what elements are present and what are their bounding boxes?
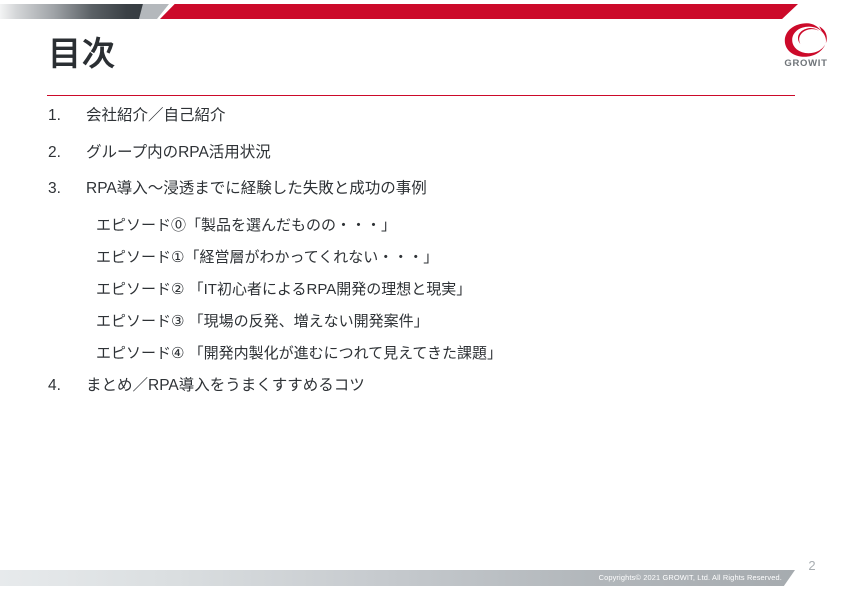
toc-item-3: 3. RPA導入〜浸透までに経験した失敗と成功の事例 [48, 181, 808, 197]
toc-item-4: 4. まとめ／RPA導入をうまくすすめるコツ [48, 378, 808, 394]
toc-subitem-label: エピソード③ 「現場の反発、増えない開発案件」 [96, 314, 429, 329]
page-number: 2 [795, 558, 829, 573]
footer-copyright: Copyrights© 2021 GROWIT, Ltd. All Rights… [0, 571, 782, 585]
title-underline-rule [47, 95, 795, 96]
slide-canvas: 目次 GROWIT 1. 会社紹介／自己紹介 2. グループ内のRPA活用状況 … [0, 0, 842, 595]
toc-item-number: 2. [48, 145, 86, 161]
logo-wordmark: GROWIT [778, 58, 834, 69]
table-of-contents-list: 1. 会社紹介／自己紹介 2. グループ内のRPA活用状況 3. RPA導入〜浸… [48, 108, 808, 414]
page-title: 目次 [48, 36, 116, 72]
toc-item-1: 1. 会社紹介／自己紹介 [48, 108, 808, 124]
toc-subitem-label: エピソード② 「IT初心者によるRPA開発の理想と現実」 [96, 282, 471, 297]
toc-item-2: 2. グループ内のRPA活用状況 [48, 145, 808, 161]
toc-item-number: 1. [48, 108, 86, 124]
growit-swirl-icon [781, 22, 831, 58]
toc-item-label: グループ内のRPA活用状況 [86, 145, 271, 161]
toc-subitem-label: エピソード⓪「製品を選んだものの・・・」 [96, 218, 396, 233]
gray-gradient-stripe [0, 4, 152, 19]
toc-item-label: RPA導入〜浸透までに経験した失敗と成功の事例 [86, 181, 427, 197]
toc-item-label: まとめ／RPA導入をうまくすすめるコツ [86, 378, 365, 394]
toc-subitem-episode-3: エピソード③ 「現場の反発、増えない開発案件」 [48, 314, 808, 329]
toc-subitem-episode-1: エピソード①「経営層がわかってくれない・・・」 [48, 250, 808, 265]
toc-subitem-episode-0: エピソード⓪「製品を選んだものの・・・」 [48, 218, 808, 233]
toc-subitem-label: エピソード①「経営層がわかってくれない・・・」 [96, 250, 438, 265]
toc-item-number: 4. [48, 378, 86, 394]
header-decoration-band [0, 0, 842, 24]
toc-item-label: 会社紹介／自己紹介 [86, 108, 226, 124]
red-stripe [160, 4, 798, 19]
toc-item-number: 3. [48, 181, 86, 197]
toc-subitem-label: エピソード④ 「開発内製化が進むにつれて見えてきた課題」 [96, 346, 502, 361]
toc-subitem-episode-4: エピソード④ 「開発内製化が進むにつれて見えてきた課題」 [48, 346, 808, 361]
brand-logo: GROWIT [778, 22, 834, 74]
toc-subitem-episode-2: エピソード② 「IT初心者によるRPA開発の理想と現実」 [48, 282, 808, 297]
